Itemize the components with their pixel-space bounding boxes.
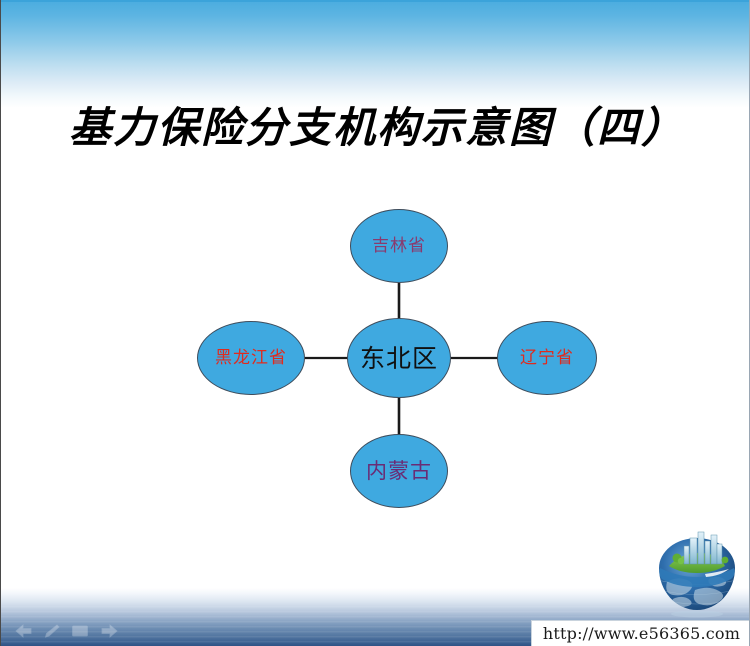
- diagram-node-label: 内蒙古: [366, 461, 432, 482]
- org-chart-diagram: 吉林省 黑龙江省 东北区 辽宁省 内蒙古: [1, 0, 750, 646]
- presentation-slide: 基力保险分支机构示意图（四） 吉林省 黑龙江省 东北区 辽宁省 内蒙古: [0, 0, 750, 646]
- watermark-url: http://www.e56365.com: [543, 624, 740, 643]
- diagram-node-label: 辽宁省: [520, 350, 574, 367]
- watermark-box: http://www.e56365.com: [531, 620, 750, 646]
- diagram-node-heilongjiang[interactable]: 黑龙江省: [197, 321, 305, 395]
- diagram-node-liaoning[interactable]: 辽宁省: [497, 321, 597, 395]
- diagram-node-neimenggu[interactable]: 内蒙古: [350, 434, 448, 508]
- globe-city-logo: [649, 524, 745, 620]
- diagram-node-center[interactable]: 东北区: [347, 318, 451, 398]
- diagram-node-label: 吉林省: [372, 238, 426, 255]
- diagram-node-jilin[interactable]: 吉林省: [350, 209, 448, 283]
- diagram-node-label: 东北区: [360, 346, 438, 371]
- diagram-node-label: 黑龙江省: [215, 350, 287, 367]
